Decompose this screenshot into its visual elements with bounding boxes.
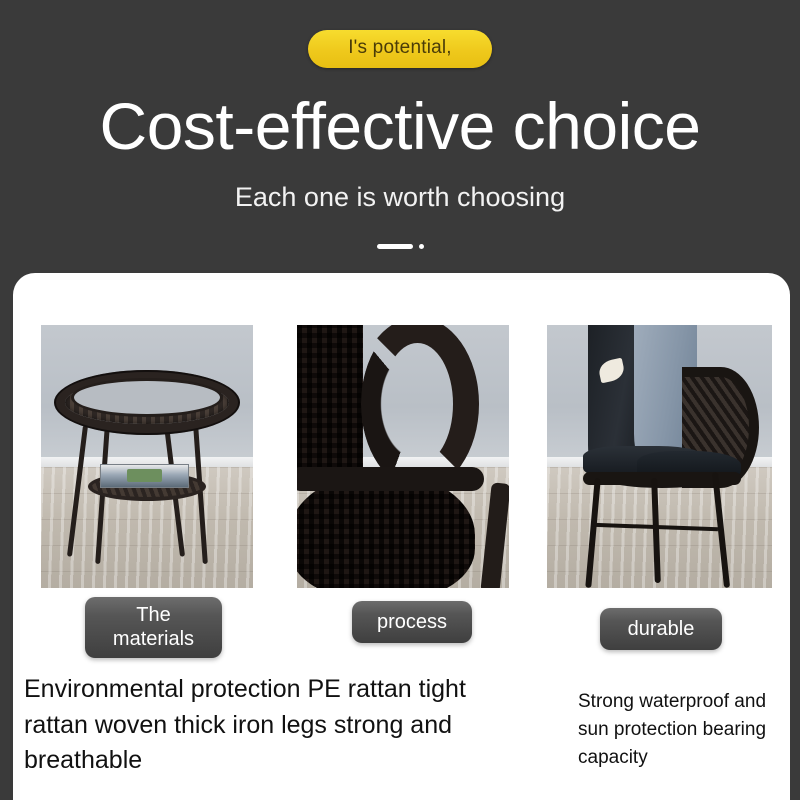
chair-back-weave [361,325,475,488]
promo-badge: I's potential, [308,30,492,68]
person-standing-on-chair-photo [547,325,772,588]
table-inner-ring [71,378,224,417]
description-left: Environmental protection PE rattan tight… [24,672,524,779]
rattan-table-photo [41,325,253,588]
chip-process: process [352,601,472,643]
divider [0,238,800,248]
chip-materials: The materials [85,597,222,658]
pant-logo [597,358,625,383]
photo-row [13,273,790,593]
chip-durable: durable [600,608,722,650]
chip-process-label: process [377,611,447,633]
chip-materials-line2: materials [103,627,204,651]
magazines [100,464,189,488]
divider-bar-icon [377,244,413,249]
chair-back-post [297,325,363,488]
description-right: Strong waterproof and sun protection bea… [578,688,798,772]
promo-page: I's potential, Cost-effective choice Eac… [0,0,800,800]
badge-container: I's potential, [0,30,800,68]
page-title: Cost-effective choice [0,92,800,161]
chair-seat-rail [297,467,484,491]
rattan-weave-closeup-photo [297,325,509,588]
page-subtitle: Each one is worth choosing [0,182,800,213]
chip-durable-label: durable [628,618,695,640]
chip-materials-line1: The [136,604,170,626]
divider-dot-icon [419,244,424,249]
